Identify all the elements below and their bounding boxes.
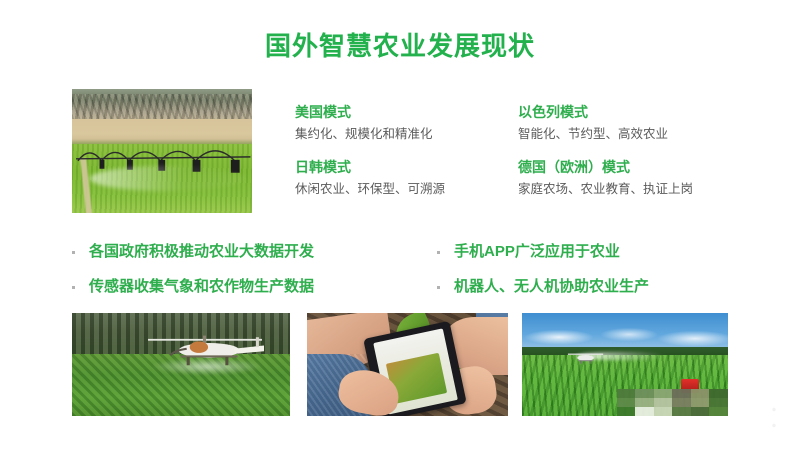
bullet-item-3: 手机APP广泛应用于农业 (437, 242, 620, 262)
mode-block-israel: 以色列模式 智能化、节约型、高效农业 (518, 103, 668, 143)
mode-description-germany-europe: 家庭农场、农业教育、执证上岗 (518, 180, 693, 198)
mode-heading-germany-europe: 德国（欧洲）模式 (518, 158, 693, 177)
mode-block-germany-europe: 德国（欧洲）模式 家庭农场、农业教育、执证上岗 (518, 158, 693, 198)
bullet-dot-icon (437, 286, 440, 289)
bullet-dot-icon (437, 251, 440, 254)
mode-description-japan-korea: 休闲农业、环保型、可溯源 (295, 180, 445, 198)
mountain-texture (72, 94, 252, 119)
mode-block-japan-korea: 日韩模式 休闲农业、环保型、可溯源 (295, 158, 445, 198)
water-spray (90, 166, 245, 191)
mode-heading-us: 美国模式 (295, 103, 433, 122)
bullet-item-4: 机器人、无人机协助农业生产 (437, 277, 649, 297)
photo-aerial-field (522, 313, 728, 416)
mode-description-us: 集约化、规模化和精准化 (295, 125, 433, 143)
bullet-label-1: 各国政府积极推动农业大数据开发 (89, 242, 314, 262)
mosaic-watermark-overlay (617, 389, 728, 416)
page-title: 国外智慧农业发展现状 (0, 30, 800, 62)
photo-irrigation (72, 89, 252, 213)
mode-description-israel: 智能化、节约型、高效农业 (518, 125, 668, 143)
bullet-item-1: 各国政府积极推动农业大数据开发 (72, 242, 314, 262)
mode-heading-israel: 以色列模式 (518, 103, 668, 122)
bullet-dot-icon (72, 286, 75, 289)
spraying-helicopter-icon (146, 329, 268, 370)
corner-watermark (766, 401, 782, 435)
photo-tablet-field (307, 313, 508, 416)
photo-drone-spraying (72, 313, 290, 416)
bullet-item-2: 传感器收集气象和农作物生产数据 (72, 277, 314, 297)
mode-block-us: 美国模式 集约化、规模化和精准化 (295, 103, 433, 143)
slide-root: 国外智慧农业发展现状 (0, 0, 800, 449)
clouds (522, 321, 728, 348)
bullet-label-2: 传感器收集气象和农作物生产数据 (89, 277, 314, 297)
bullet-label-3: 手机APP广泛应用于农业 (454, 242, 620, 262)
bullet-label-4: 机器人、无人机协助农业生产 (454, 277, 649, 297)
bullet-dot-icon (72, 251, 75, 254)
aerial-drone-icon (567, 350, 604, 364)
mode-heading-japan-korea: 日韩模式 (295, 158, 445, 177)
